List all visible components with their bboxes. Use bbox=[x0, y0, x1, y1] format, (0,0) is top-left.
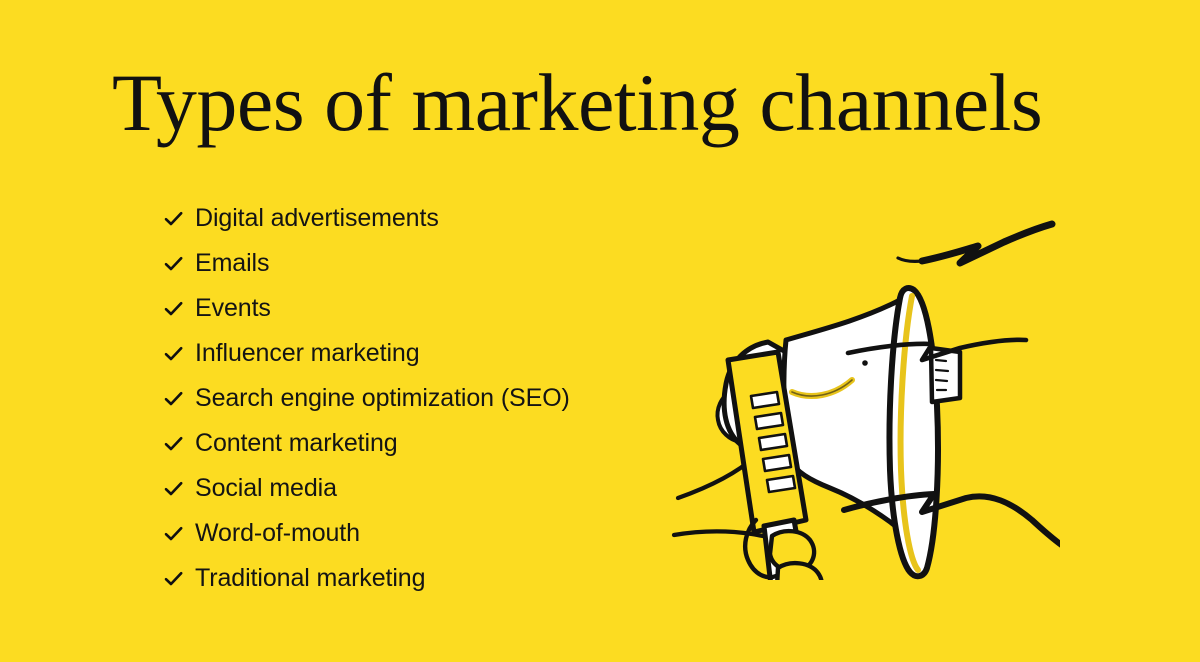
slide-canvas: Types of marketing channels Digital adve… bbox=[0, 0, 1200, 662]
sound-wave-top-tail bbox=[898, 258, 922, 261]
list-item: Events bbox=[163, 286, 570, 331]
list-item: Traditional marketing bbox=[163, 556, 570, 601]
list-item: Content marketing bbox=[163, 421, 570, 466]
list-item: Influencer marketing bbox=[163, 331, 570, 376]
list-item-label: Word-of-mouth bbox=[195, 521, 360, 546]
sound-wave-top bbox=[922, 224, 1052, 263]
list-item-label: Influencer marketing bbox=[195, 341, 420, 366]
list-item-label: Content marketing bbox=[195, 431, 398, 456]
check-icon bbox=[163, 253, 184, 274]
list-item-label: Emails bbox=[195, 251, 269, 276]
list-item: Search engine optimization (SEO) bbox=[163, 376, 570, 421]
check-icon bbox=[163, 343, 184, 364]
list-item-label: Social media bbox=[195, 476, 337, 501]
check-icon bbox=[163, 208, 184, 229]
list-item-label: Events bbox=[195, 296, 271, 321]
marketing-channels-list: Digital advertisements Emails Events bbox=[163, 196, 570, 601]
check-icon bbox=[163, 388, 184, 409]
megaphone-cone bbox=[889, 288, 937, 576]
sound-wave-bottom bbox=[844, 494, 1060, 552]
check-icon bbox=[163, 568, 184, 589]
check-icon bbox=[163, 478, 184, 499]
list-item: Social media bbox=[163, 466, 570, 511]
hand-holding-megaphone-illustration bbox=[660, 220, 1060, 580]
list-item: Word-of-mouth bbox=[163, 511, 570, 556]
list-item-label: Digital advertisements bbox=[195, 206, 439, 231]
check-icon bbox=[163, 523, 184, 544]
page-title: Types of marketing channels bbox=[112, 62, 1122, 144]
list-item: Digital advertisements bbox=[163, 196, 570, 241]
check-icon bbox=[163, 433, 184, 454]
list-item-label: Traditional marketing bbox=[195, 566, 425, 591]
check-icon bbox=[163, 298, 184, 319]
list-item: Emails bbox=[163, 241, 570, 286]
list-item-label: Search engine optimization (SEO) bbox=[195, 386, 570, 411]
